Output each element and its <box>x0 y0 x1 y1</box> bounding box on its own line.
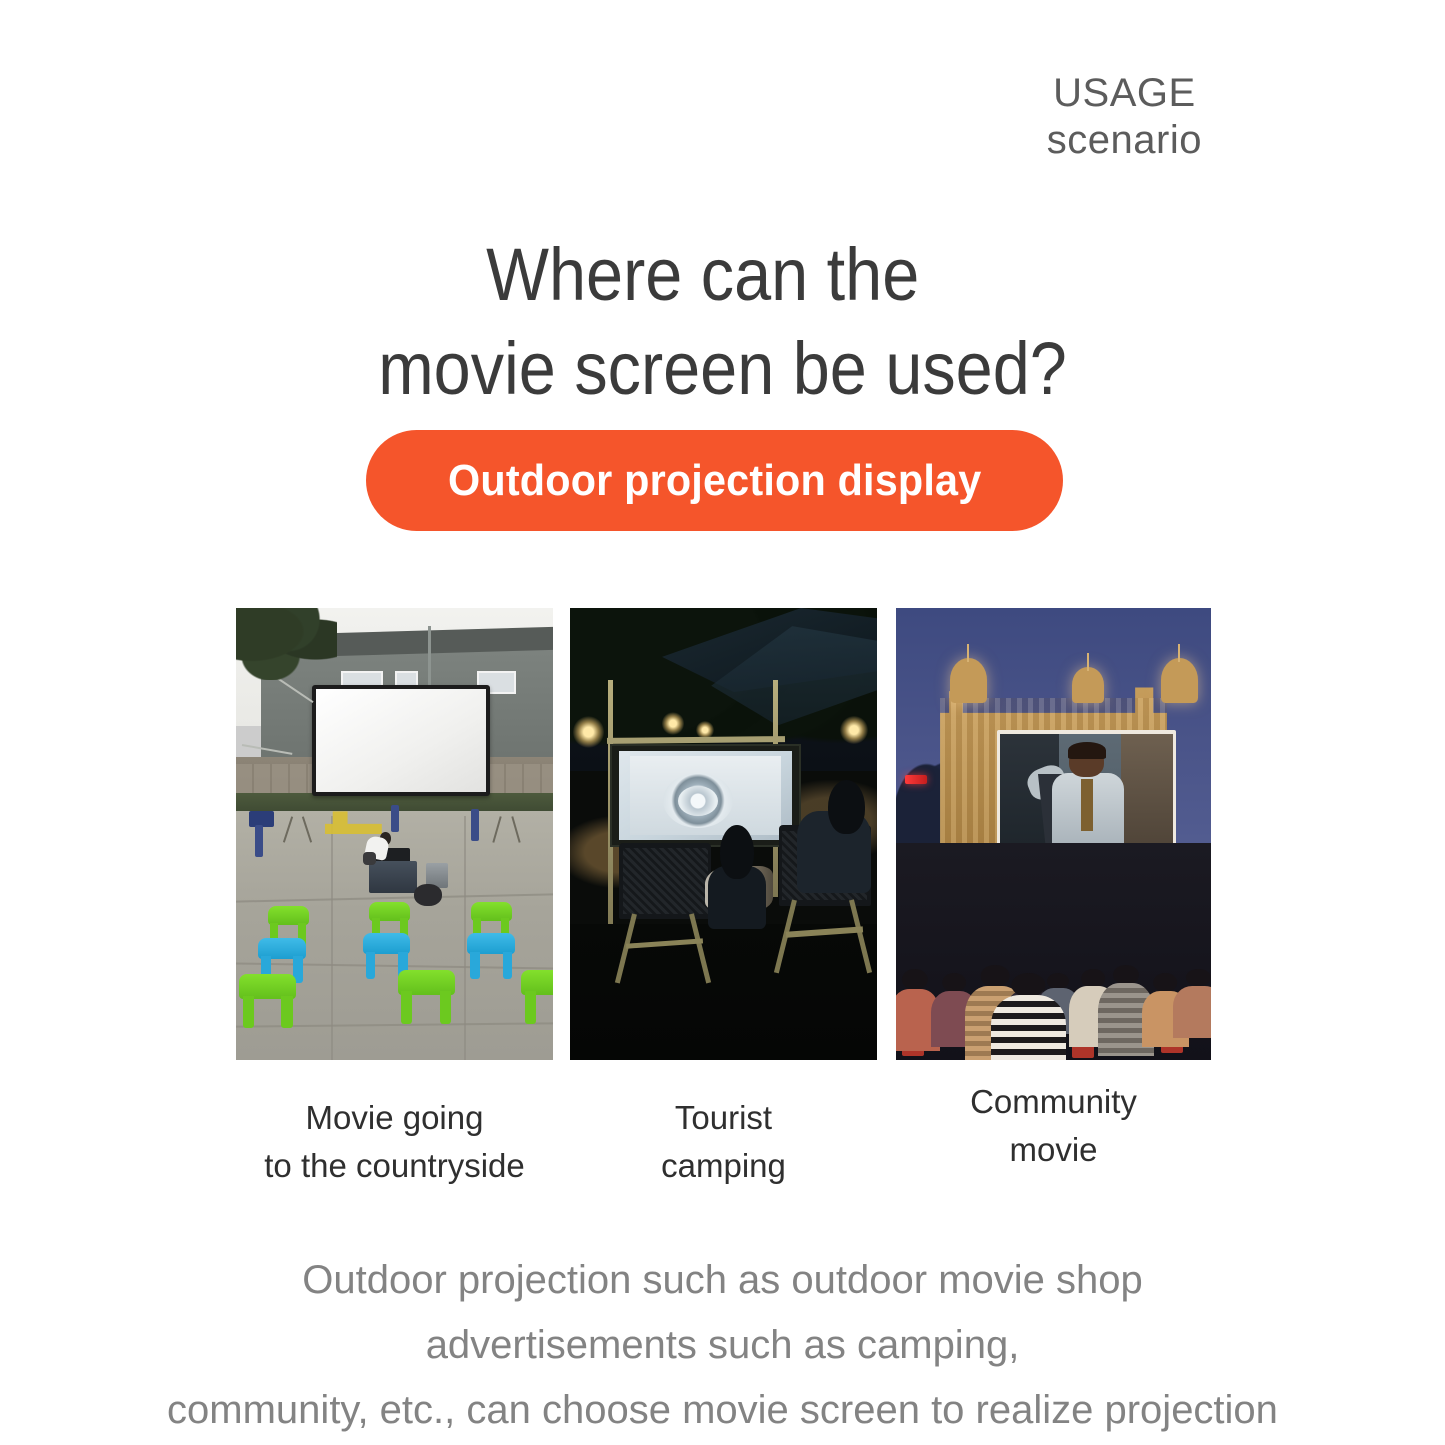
folding-chair <box>619 843 711 979</box>
caption-line-1: Movie going <box>236 1094 553 1142</box>
caption-community-movie: Community movie <box>896 1078 1211 1174</box>
operator-person <box>363 829 395 865</box>
caption-movie-going-to-the-countryside: Movie going to the countryside <box>236 1094 553 1190</box>
building-dome <box>1161 658 1199 703</box>
usage-gallery <box>236 608 1211 1060</box>
description-paragraph: Outdoor projection such as outdoor movie… <box>0 1248 1445 1442</box>
audience-person <box>1173 969 1211 1038</box>
projection-screen-surface <box>619 751 791 840</box>
caption-line-2: movie <box>896 1126 1211 1174</box>
description-line-3: community, etc., can choose movie screen… <box>0 1378 1445 1443</box>
street-lamp <box>840 716 868 743</box>
playground-equipment <box>255 825 263 857</box>
projected-actor-hair <box>1068 742 1106 759</box>
projection-screen-frame <box>610 744 801 847</box>
projection-screen-surface <box>316 689 486 792</box>
description-line-2: advertisements such as camping, <box>0 1313 1445 1378</box>
scene-countryside <box>236 608 553 1060</box>
caption-tourist-camping: Tourist camping <box>570 1094 877 1190</box>
street-lamp <box>573 716 604 748</box>
gallery-captions: Movie going to the countryside Tourist c… <box>0 1080 1445 1200</box>
ground-crack <box>464 816 466 1060</box>
outdoor-projection-badge[interactable]: Outdoor projection display <box>366 430 1063 531</box>
audience-person-foreground <box>991 973 1067 1060</box>
projected-hubcap <box>678 786 717 816</box>
page-title-line-2: movie screen be used? <box>72 322 1373 416</box>
stool <box>239 974 296 1028</box>
equipment-case <box>369 861 417 893</box>
audience-crowd <box>896 843 1211 1060</box>
bag <box>414 884 443 907</box>
caption-line-1: Tourist <box>570 1094 877 1142</box>
eyebrow-line-1: USAGE <box>1047 70 1202 117</box>
page-title-line-1: Where can the <box>52 228 1353 322</box>
building-dome <box>1072 667 1104 703</box>
red-sign-light <box>905 775 927 784</box>
scene-community <box>896 608 1211 1060</box>
caption-line-1: Community <box>896 1078 1211 1126</box>
person-leg <box>363 852 376 865</box>
playground-equipment <box>391 805 399 832</box>
stool <box>521 970 553 1024</box>
mast-pole <box>428 626 431 689</box>
gallery-image-tourist-camping <box>570 608 877 1060</box>
eyebrow-label: USAGE scenario <box>1047 70 1202 164</box>
projection-screen-frame <box>997 730 1177 857</box>
building-spire <box>967 644 969 662</box>
projected-background-right <box>1121 734 1173 853</box>
stool <box>467 933 515 978</box>
stool <box>398 970 455 1024</box>
projection-screen-surface <box>1000 734 1172 853</box>
description-line-1: Outdoor projection such as outdoor movie… <box>0 1248 1445 1313</box>
projection-screen-frame <box>312 685 490 796</box>
scene-camping <box>570 608 877 1060</box>
street-lamp <box>662 712 683 735</box>
tree <box>236 608 337 680</box>
projected-actor-tie <box>1081 779 1093 831</box>
person-head <box>828 780 865 834</box>
gallery-image-community-movie <box>896 608 1211 1060</box>
gallery-image-movie-going-to-the-countryside <box>236 608 553 1060</box>
projected-image-car <box>630 756 782 835</box>
outdoor-projection-badge-label: Outdoor projection display <box>448 456 981 506</box>
building-dome <box>950 658 988 703</box>
eyebrow-line-2: scenario <box>1047 117 1202 164</box>
playground-equipment <box>471 809 479 841</box>
caption-line-2: to the countryside <box>236 1142 553 1190</box>
person-head <box>720 825 754 879</box>
building-spire <box>1178 644 1180 662</box>
building-spire <box>1087 653 1089 671</box>
ground-crack <box>331 816 333 1060</box>
caption-line-2: camping <box>570 1142 877 1190</box>
promo-page: USAGE scenario Where can the movie scree… <box>0 0 1445 1445</box>
page-title: Where can the movie screen be used? <box>72 228 1373 416</box>
